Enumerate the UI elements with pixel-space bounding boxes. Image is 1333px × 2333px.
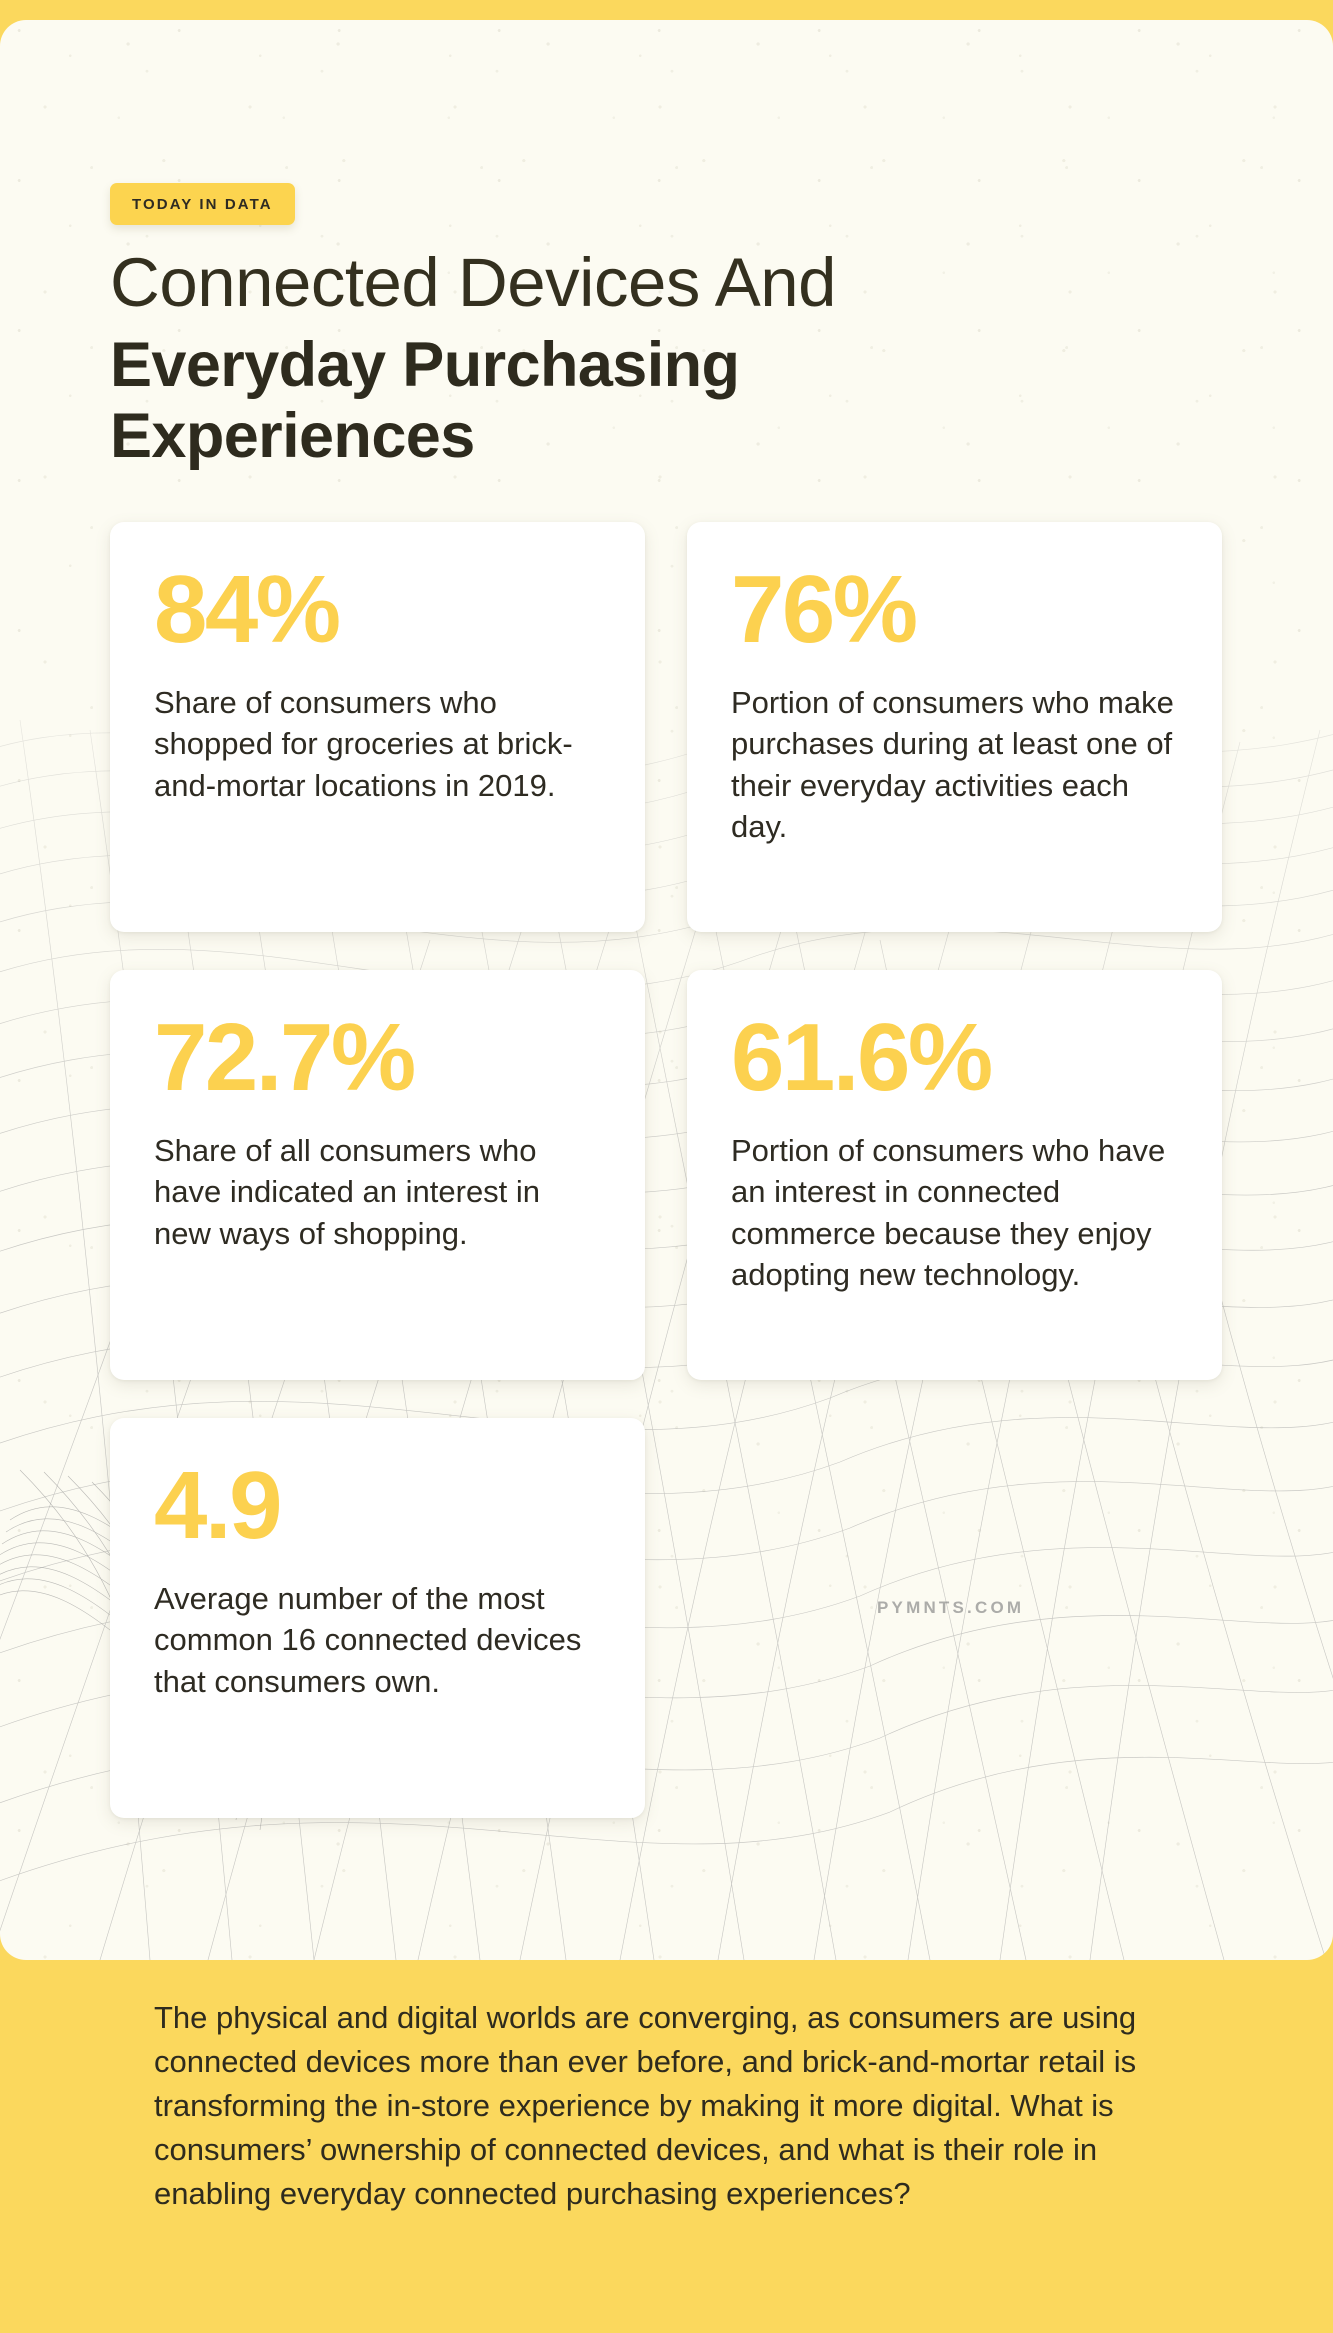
page-title-line-light: Connected Devices And: [110, 248, 1110, 318]
pymnts-watermark: PYMNTS.COM: [877, 1598, 1024, 1618]
stat-value: 72.7%: [154, 1012, 605, 1104]
stat-card: 72.7% Share of all consumers who have in…: [110, 970, 645, 1380]
footer-body-text: The physical and digital worlds are conv…: [154, 1996, 1174, 2216]
page-title-line-bold: Everyday Purchasing Experiences: [110, 330, 1110, 471]
stat-card-grid: 84% Share of consumers who shopped for g…: [110, 522, 1223, 1856]
stat-description: Portion of consumers who have an interes…: [731, 1130, 1182, 1295]
stat-card: 84% Share of consumers who shopped for g…: [110, 522, 645, 932]
stat-value: 4.9: [154, 1460, 605, 1552]
stat-description: Share of all consumers who have indicate…: [154, 1130, 605, 1254]
stat-card: 61.6% Portion of consumers who have an i…: [687, 970, 1222, 1380]
page-title: Connected Devices And Everyday Purchasin…: [110, 248, 1110, 471]
stat-card-row-1: 84% Share of consumers who shopped for g…: [110, 522, 1223, 932]
stat-card-row-3: 4.9 Average number of the most common 16…: [110, 1418, 1223, 1818]
footer-band: The physical and digital worlds are conv…: [0, 1960, 1333, 2333]
main-panel: TODAY IN DATA Connected Devices And Ever…: [0, 20, 1333, 1960]
stat-value: 76%: [731, 564, 1182, 656]
stat-card: 4.9 Average number of the most common 16…: [110, 1418, 645, 1818]
today-in-data-badge: TODAY IN DATA: [110, 183, 295, 225]
stat-value: 84%: [154, 564, 605, 656]
stat-card-row-2: 72.7% Share of all consumers who have in…: [110, 970, 1223, 1380]
stat-card: 76% Portion of consumers who make purcha…: [687, 522, 1222, 932]
stat-description: Portion of consumers who make purchases …: [731, 682, 1182, 847]
stat-description: Average number of the most common 16 con…: [154, 1578, 605, 1702]
stat-value: 61.6%: [731, 1012, 1182, 1104]
stat-description: Share of consumers who shopped for groce…: [154, 682, 605, 806]
infographic-root: TODAY IN DATA Connected Devices And Ever…: [0, 0, 1333, 2333]
